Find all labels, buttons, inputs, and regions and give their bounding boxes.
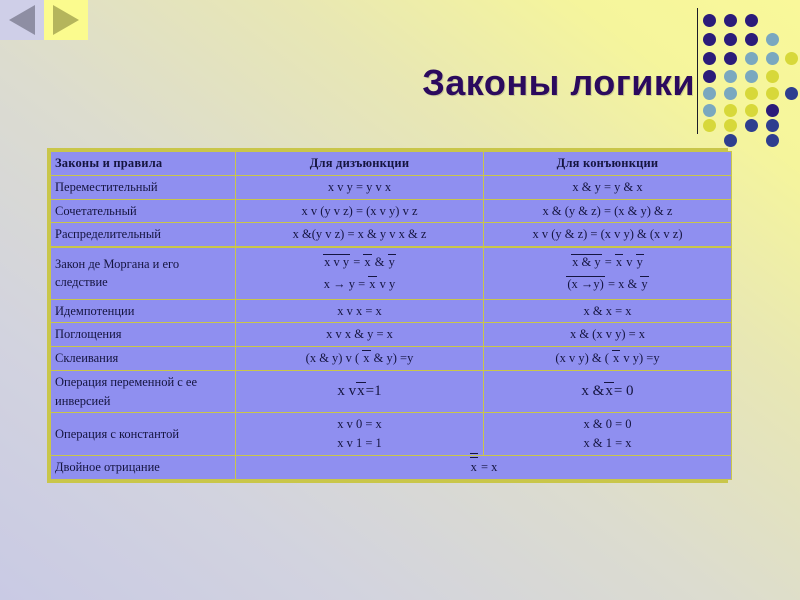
law-name: Переместительный <box>51 175 236 199</box>
column-header-name: Законы и правила <box>51 152 236 176</box>
law-disjunction-formula: x v 0 = x x v 1 = 1 <box>236 413 484 456</box>
page-title: Законы логики <box>40 62 695 104</box>
law-disjunction-formula: (x & y) v ( x & y) =y <box>236 347 484 371</box>
law-conjunction-formula: x & (y & z) = (x & y) & z <box>484 199 732 223</box>
logic-laws-table: Законы и правила Для дизъюнкции Для конъ… <box>47 148 728 483</box>
law-conjunction-formula: (x v y) & ( x v y) =y <box>484 347 732 371</box>
dot-grid-decoration <box>697 0 800 140</box>
decor-dot <box>785 87 798 100</box>
law-name: Двойное отрицание <box>51 455 236 479</box>
decor-dot <box>703 104 716 117</box>
decor-dot <box>766 52 779 65</box>
decor-dot <box>745 70 758 83</box>
decor-dot <box>745 87 758 100</box>
decor-dot <box>703 70 716 83</box>
decor-dot <box>745 119 758 132</box>
triangle-right-icon <box>53 5 79 35</box>
decor-vertical-rule <box>697 8 698 134</box>
next-slide-button[interactable] <box>44 0 88 40</box>
table-row: Операция с константой x v 0 = x x v 1 = … <box>51 413 732 456</box>
decor-dot <box>703 52 716 65</box>
table-row: Закон де Моргана и его следствие x v y =… <box>51 247 732 299</box>
table-row: Склеивания (x & y) v ( x & y) =y (x v y)… <box>51 347 732 371</box>
decor-dot <box>703 33 716 46</box>
law-conjunction-formula: x &x= 0 <box>484 370 732 413</box>
law-name: Операция переменной с ее инверсией <box>51 370 236 413</box>
slide-canvas: Законы логики Законы и правила Для дизъю… <box>0 0 800 600</box>
law-conjunction-formula: x & 0 = 0 x & 1 = x <box>484 413 732 456</box>
law-formula-spanning: x = x <box>236 455 732 479</box>
decor-dot <box>745 33 758 46</box>
decor-dot <box>745 52 758 65</box>
law-conjunction-formula: x & (x v y) = x <box>484 323 732 347</box>
table-row: Операция переменной с ее инверсией x vx=… <box>51 370 732 413</box>
triangle-left-icon <box>9 5 35 35</box>
formula-line: (x →y) = x & y <box>488 275 727 294</box>
law-conjunction-formula: x & y = y & x <box>484 175 732 199</box>
table-row: Идемпотенции x v x = x x & x = x <box>51 299 732 323</box>
table-row: Поглощения x v x & y = x x & (x v y) = x <box>51 323 732 347</box>
decor-dot <box>745 14 758 27</box>
formula-line: x v 0 = x <box>240 415 479 434</box>
decor-dot <box>766 33 779 46</box>
decor-dot <box>766 87 779 100</box>
decor-dot <box>724 104 737 117</box>
formula-line: x v y = x & y <box>240 253 479 272</box>
decor-dot <box>724 14 737 27</box>
law-name: Идемпотенции <box>51 299 236 323</box>
decor-dot <box>724 70 737 83</box>
law-disjunction-formula: x v x & y = x <box>236 323 484 347</box>
decor-dot <box>766 119 779 132</box>
decor-dot <box>785 52 798 65</box>
law-name: Склеивания <box>51 347 236 371</box>
decor-dot <box>703 119 716 132</box>
law-disjunction-formula: x &(y v z) = x & y v x & z <box>236 223 484 247</box>
previous-slide-button[interactable] <box>0 0 44 40</box>
law-conjunction-formula: x & x = x <box>484 299 732 323</box>
formula-line: x → y = x v y <box>240 275 479 294</box>
table-row: Переместительный x v y = y v x x & y = y… <box>51 175 732 199</box>
law-name: Распределительный <box>51 223 236 247</box>
law-name: Поглощения <box>51 323 236 347</box>
decor-dot <box>766 70 779 83</box>
law-disjunction-formula: x v (y v z) = (x v y) v z <box>236 199 484 223</box>
decor-dot <box>724 119 737 132</box>
table-header-row: Законы и правила Для дизъюнкции Для конъ… <box>51 152 732 176</box>
table-row: Сочетательный x v (y v z) = (x v y) v z … <box>51 199 732 223</box>
decor-dot <box>703 87 716 100</box>
decor-dot <box>724 87 737 100</box>
table-row: Распределительный x &(y v z) = x & y v x… <box>51 223 732 247</box>
column-header-disjunction: Для дизъюнкции <box>236 152 484 176</box>
decor-dot <box>766 134 779 147</box>
decor-dot <box>745 104 758 117</box>
decor-dot <box>724 33 737 46</box>
law-name: Операция с константой <box>51 413 236 456</box>
table-row: Двойное отрицание x = x <box>51 455 732 479</box>
column-header-conjunction: Для конъюнкции <box>484 152 732 176</box>
decor-dot <box>766 104 779 117</box>
decor-dot <box>724 52 737 65</box>
formula-line: x v 1 = 1 <box>240 434 479 453</box>
law-name: Закон де Моргана и его следствие <box>51 247 236 299</box>
formula-line: x & y = x v y <box>488 253 727 272</box>
decor-dot <box>703 14 716 27</box>
law-disjunction-formula: x v y = y v x <box>236 175 484 199</box>
decor-dot <box>724 134 737 147</box>
formula-line: x & 1 = x <box>488 434 727 453</box>
law-name: Сочетательный <box>51 199 236 223</box>
law-conjunction-formula: x & y = x v y (x →y) = x & y <box>484 247 732 299</box>
formula-line: x & 0 = 0 <box>488 415 727 434</box>
slide-navigation <box>0 0 88 40</box>
law-disjunction-formula: x vx=1 <box>236 370 484 413</box>
law-conjunction-formula: x v (y & z) = (x v y) & (x v z) <box>484 223 732 247</box>
law-disjunction-formula: x v y = x & y x → y = x v y <box>236 247 484 299</box>
law-disjunction-formula: x v x = x <box>236 299 484 323</box>
